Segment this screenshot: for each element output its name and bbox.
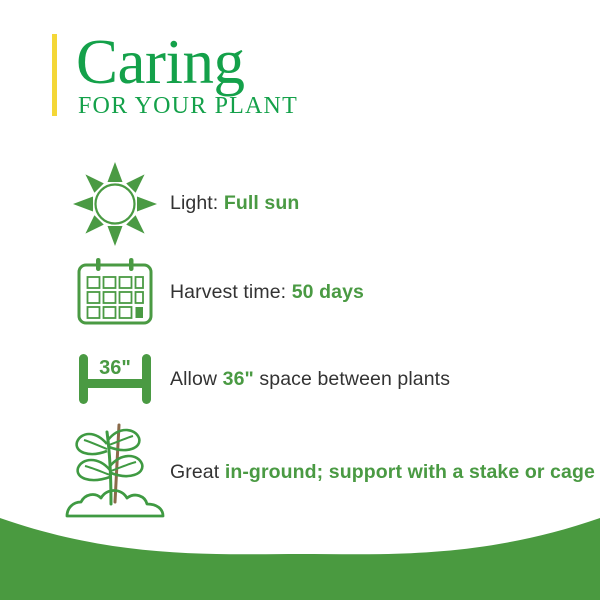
spacing-icon-label: 36" (99, 357, 131, 379)
harvest-label: Harvest time: (170, 281, 286, 303)
care-row-spacing: 36" Allow 36" space between plants (60, 352, 450, 408)
care-info-card: Caring FOR YOUR PLANT (0, 0, 600, 600)
light-text: Light: Full sun (170, 191, 299, 217)
calendar-icon (60, 258, 170, 328)
spacing-label: Allow (170, 368, 217, 390)
spacing-icon: 36" (60, 352, 170, 408)
care-row-light: Light: Full sun (60, 160, 299, 248)
support-value: in-ground; support with a stake or cage (225, 461, 595, 483)
support-text: Great in-ground; support with a stake or… (170, 418, 595, 486)
light-label: Light: (170, 192, 218, 214)
spacing-value: 36" (223, 368, 254, 390)
plant-stake-icon (60, 418, 170, 518)
spacing-value-after: space between plants (259, 368, 450, 390)
sun-icon (60, 160, 170, 248)
care-row-harvest: Harvest time: 50 days (60, 258, 364, 328)
spacing-text: Allow 36" space between plants (170, 367, 450, 393)
light-value: Full sun (224, 192, 300, 214)
bottom-wave-decoration (0, 508, 600, 600)
harvest-text: Harvest time: 50 days (170, 280, 364, 306)
care-row-support: Great in-ground; support with a stake or… (60, 418, 595, 518)
support-label: Great (170, 461, 219, 483)
harvest-value: 50 days (292, 281, 364, 303)
